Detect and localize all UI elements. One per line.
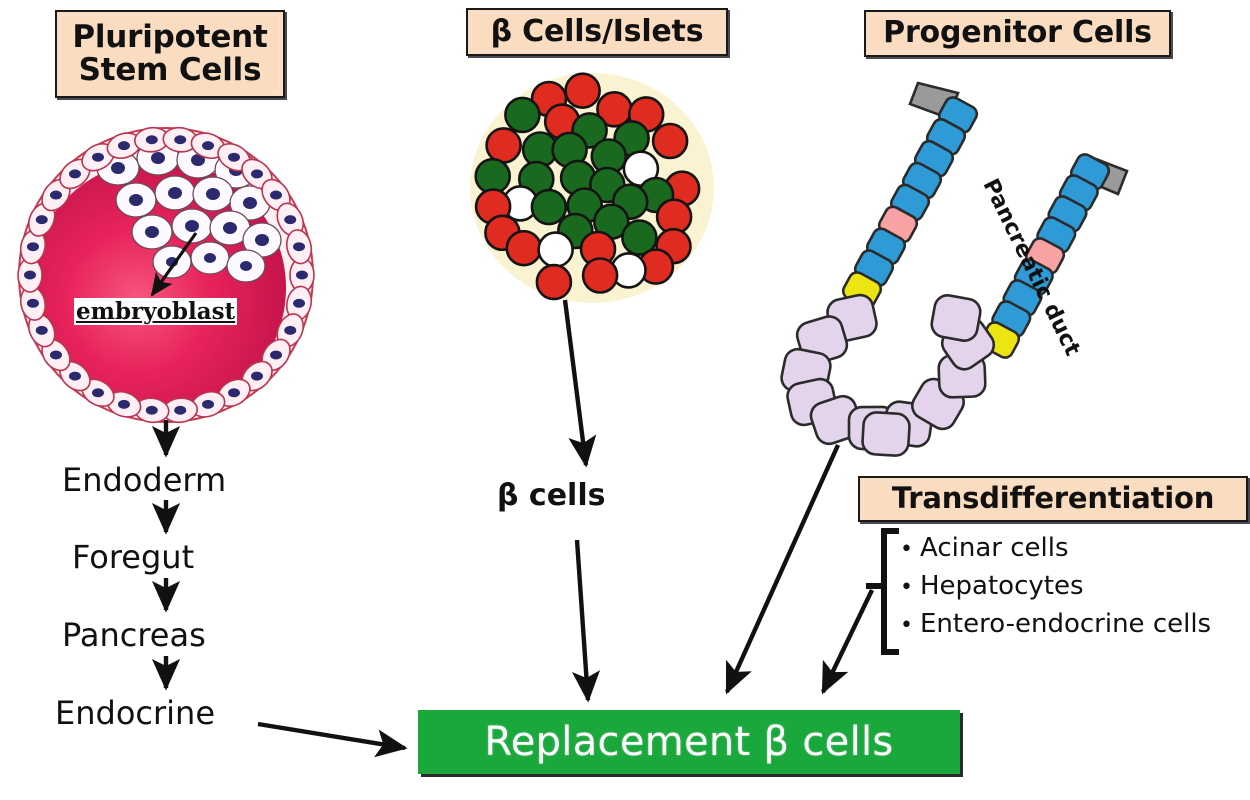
beta-cells-output-label: β cells [497, 478, 605, 513]
panel-header-transdifferentiation: Transdifferentiation [858, 476, 1248, 522]
bullet-icon: • [900, 577, 920, 599]
transdifferentiation-list: • Acinar cells • Hepatocytes • Entero-en… [900, 530, 1250, 644]
transdiff-item-label: Acinar cells [920, 530, 1069, 568]
transdiff-item-label: Hepatocytes [920, 568, 1084, 606]
arrow-endocrine-to-replacement [258, 724, 405, 748]
transdiff-bracket [869, 531, 896, 652]
arrow-betacells-to-replacement [577, 540, 588, 700]
bullet-icon: • [900, 615, 920, 637]
beta-islets-header-label: β Cells/Islets [471, 13, 723, 51]
pancreatic-duct-label: Pancreatic duct [978, 175, 1085, 360]
bullet-icon: • [900, 539, 920, 561]
arrow-islet-to-betacells [565, 300, 586, 465]
diagram-graphics [0, 0, 1250, 800]
figure-canvas: Pluripotent Stem Cells β Cells/Islets Pr… [0, 0, 1250, 800]
panel-header-beta-cells-islets: β Cells/Islets [466, 8, 728, 56]
panel-header-pluripotent-label: Pluripotent Stem Cells [60, 15, 280, 93]
psc-header-line1: Pluripotent [72, 19, 267, 55]
blastocyst-illustration [18, 126, 315, 424]
progenitor-header-label: Progenitor Cells [869, 15, 1166, 52]
replacement-beta-cells-box: Replacement β cells [418, 710, 960, 774]
trophoblast-rim [18, 126, 315, 424]
list-item: • Hepatocytes [900, 568, 1250, 606]
flow-arrows [166, 300, 872, 748]
transdiff-item-label: Entero-endocrine cells [920, 606, 1211, 644]
lineage-step-foregut: Foregut [72, 538, 194, 576]
list-item: • Acinar cells [900, 530, 1250, 568]
transdifferentiation-header-label: Transdifferentiation [863, 481, 1243, 517]
replacement-beta-cells-label: Replacement β cells [484, 719, 893, 765]
pancreatic-duct-illustration [779, 83, 1127, 456]
islet-illustration [470, 73, 714, 303]
psc-header-line2: Stem Cells [79, 52, 262, 88]
arrow-transdiff-to-replacement [823, 590, 872, 692]
list-item: • Entero-endocrine cells [900, 606, 1250, 644]
lineage-step-pancreas: Pancreas [62, 616, 206, 654]
embryoblast-label: embryoblast [74, 298, 237, 325]
panel-header-progenitor-cells: Progenitor Cells [864, 10, 1171, 57]
lineage-step-endoderm: Endoderm [62, 461, 226, 499]
panel-header-pluripotent-stem-cells: Pluripotent Stem Cells [55, 10, 285, 98]
lineage-step-endocrine: Endocrine [55, 694, 215, 732]
arrow-progenitor-to-replacement [727, 445, 838, 692]
